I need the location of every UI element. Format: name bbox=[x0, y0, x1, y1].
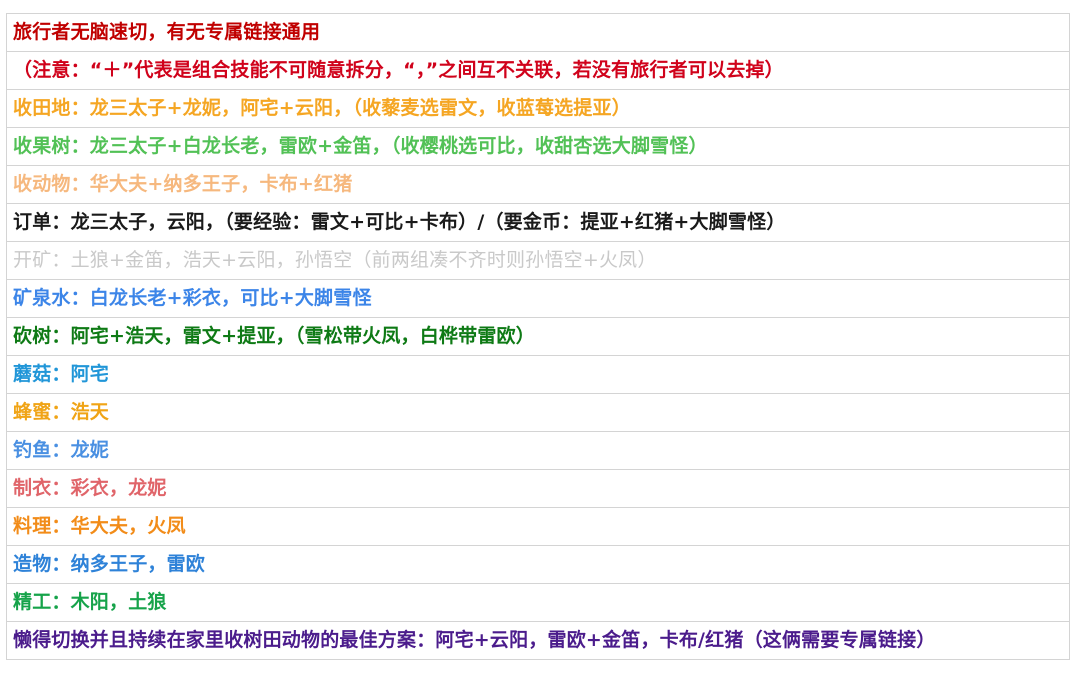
table-row[interactable]: 收动物：华大夫+纳多王子，卡布+红猪 bbox=[7, 166, 1070, 204]
table-row[interactable]: 蘑菇：阿宅 bbox=[7, 356, 1070, 394]
guide-table: 旅行者无脑速切，有无专属链接通用（注意：“＋”代表是组合技能不可随意拆分，“，”… bbox=[6, 13, 1070, 660]
task-fine-work[interactable]: 精工：木阳，土狼 bbox=[7, 584, 1070, 622]
task-harvest-fields[interactable]: 收田地：龙三太子+龙妮，阿宅+云阳，（收藜麦选雷文，收蓝莓选提亚） bbox=[7, 90, 1070, 128]
note-symbol-legend[interactable]: （注意：“＋”代表是组合技能不可随意拆分，“，”之间互不关联，若没有旅行者可以去… bbox=[7, 52, 1070, 90]
summary-best-lazy-plan[interactable]: 懒得切换并且持续在家里收树田动物的最佳方案：阿宅+云阳，雷欧+金笛，卡布/红猪（… bbox=[7, 622, 1070, 660]
table-row[interactable]: 料理：华大夫，火凤 bbox=[7, 508, 1070, 546]
task-chopping-trees[interactable]: 砍树：阿宅+浩天，雷文+提亚，（雪松带火凤，白桦带雷欧） bbox=[7, 318, 1070, 356]
task-fishing[interactable]: 钓鱼：龙妮 bbox=[7, 432, 1070, 470]
task-crafting[interactable]: 造物：纳多王子，雷欧 bbox=[7, 546, 1070, 584]
spreadsheet-canvas: 旅行者无脑速切，有无专属链接通用（注意：“＋”代表是组合技能不可随意拆分，“，”… bbox=[0, 0, 1080, 694]
task-mineral-water[interactable]: 矿泉水：白龙长老+彩衣，可比+大脚雪怪 bbox=[7, 280, 1070, 318]
task-cooking[interactable]: 料理：华大夫，火凤 bbox=[7, 508, 1070, 546]
table-row[interactable]: 砍树：阿宅+浩天，雷文+提亚，（雪松带火凤，白桦带雷欧） bbox=[7, 318, 1070, 356]
task-mushroom[interactable]: 蘑菇：阿宅 bbox=[7, 356, 1070, 394]
task-harvest-fruit-trees[interactable]: 收果树：龙三太子+白龙长老，雷欧+金笛，（收樱桃选可比，收甜杏选大脚雪怪） bbox=[7, 128, 1070, 166]
table-row[interactable]: 矿泉水：白龙长老+彩衣，可比+大脚雪怪 bbox=[7, 280, 1070, 318]
task-orders[interactable]: 订单：龙三太子，云阳，（要经验：雷文+可比+卡布）/（要金币：提亚+红猪+大脚雪… bbox=[7, 204, 1070, 242]
table-row[interactable]: （注意：“＋”代表是组合技能不可随意拆分，“，”之间互不关联，若没有旅行者可以去… bbox=[7, 52, 1070, 90]
task-honey[interactable]: 蜂蜜：浩天 bbox=[7, 394, 1070, 432]
table-row[interactable]: 收田地：龙三太子+龙妮，阿宅+云阳，（收藜麦选雷文，收蓝莓选提亚） bbox=[7, 90, 1070, 128]
guide-table-body: 旅行者无脑速切，有无专属链接通用（注意：“＋”代表是组合技能不可随意拆分，“，”… bbox=[7, 14, 1070, 660]
table-row[interactable]: 收果树：龙三太子+白龙长老，雷欧+金笛，（收樱桃选可比，收甜杏选大脚雪怪） bbox=[7, 128, 1070, 166]
task-tailoring[interactable]: 制衣：彩衣，龙妮 bbox=[7, 470, 1070, 508]
task-mining[interactable]: 开矿：土狼+金笛，浩天+云阳，孙悟空（前两组凑不齐时则孙悟空+火凤） bbox=[7, 242, 1070, 280]
table-row[interactable]: 懒得切换并且持续在家里收树田动物的最佳方案：阿宅+云阳，雷欧+金笛，卡布/红猪（… bbox=[7, 622, 1070, 660]
table-row[interactable]: 旅行者无脑速切，有无专属链接通用 bbox=[7, 14, 1070, 52]
title-traveler-quick-swap[interactable]: 旅行者无脑速切，有无专属链接通用 bbox=[7, 14, 1070, 52]
table-row[interactable]: 订单：龙三太子，云阳，（要经验：雷文+可比+卡布）/（要金币：提亚+红猪+大脚雪… bbox=[7, 204, 1070, 242]
task-harvest-animals[interactable]: 收动物：华大夫+纳多王子，卡布+红猪 bbox=[7, 166, 1070, 204]
table-row[interactable]: 精工：木阳，土狼 bbox=[7, 584, 1070, 622]
table-row[interactable]: 制衣：彩衣，龙妮 bbox=[7, 470, 1070, 508]
table-row[interactable]: 造物：纳多王子，雷欧 bbox=[7, 546, 1070, 584]
table-row[interactable]: 蜂蜜：浩天 bbox=[7, 394, 1070, 432]
table-row[interactable]: 开矿：土狼+金笛，浩天+云阳，孙悟空（前两组凑不齐时则孙悟空+火凤） bbox=[7, 242, 1070, 280]
table-row[interactable]: 钓鱼：龙妮 bbox=[7, 432, 1070, 470]
